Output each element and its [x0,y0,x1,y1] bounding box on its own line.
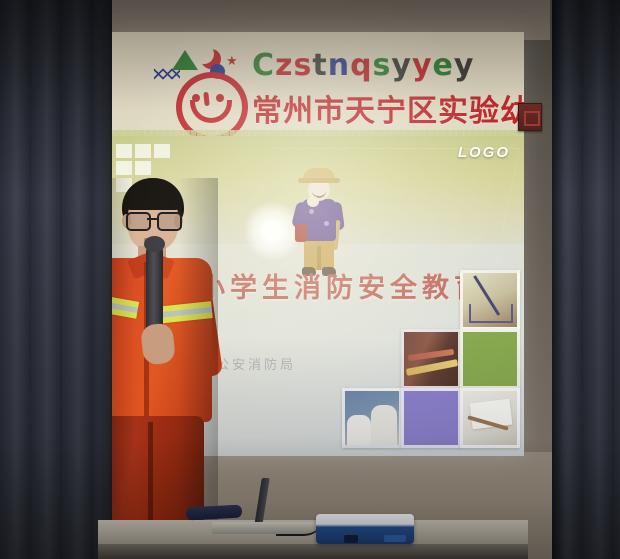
slide-header-band: ★ Czstnqsyyey 常州市天宁区实验幼儿园 [112,32,524,140]
photo-tile-purple-block [401,388,461,448]
grid-square [154,161,170,175]
photo-mosaic [342,270,518,456]
grid-square [116,144,132,158]
presentation-photo-scene: ★ Czstnqsyyey 常州市天宁区实验幼儿园 LOGO [0,0,620,559]
brand-letter: z [275,48,293,83]
brand-letter: s [294,48,313,83]
slide-subtitle: 公安消防局 [216,354,296,373]
cartoon-pouch [295,224,307,242]
photo-tile-pencils [401,329,461,389]
grid-square [154,144,170,158]
brand-letter: s [373,48,392,83]
red-crescent-icon [194,44,214,64]
glasses-icon [126,212,180,227]
brand-letter: y [412,48,433,83]
brand-letter: e [433,48,454,83]
glasses-bridge [147,218,157,220]
wall-sign-glyph [524,111,540,126]
cartoon-jacket [302,199,336,241]
brand-english-text: Czstnqsyyey [252,48,474,83]
brand-letter: t [312,48,327,83]
photo-tile-students [342,388,402,448]
brand-letter: C [252,48,275,83]
photo-tile-compass [460,270,520,330]
grid-square [135,161,151,175]
brand-letter: n [328,48,350,83]
projector-device [316,514,414,544]
logo-placeholder-text: LOGO [458,144,510,161]
brand-chinese-text: 常州市天宁区实验幼儿园 [252,86,524,130]
curtain-left [0,0,112,559]
projector-panel [384,535,406,542]
grid-square [116,161,132,175]
cartoon-hand [307,196,319,207]
red-star-icon: ★ [226,54,238,67]
brand-letter: y [454,48,475,83]
glasses-lens-left [126,212,151,231]
photo-tile-papers [460,388,520,448]
cartoon-helmet [303,168,335,182]
smiley-face-mascot-icon: ★ [154,42,250,134]
photo-tile-green-block [460,329,520,389]
brand-letter: y [391,48,412,83]
fire-safety-wall-sign [518,103,542,131]
grid-square [135,144,151,158]
presenter-hand [140,322,176,365]
table-shadow [98,544,528,559]
microphone-icon [146,244,163,332]
glasses-lens-right [157,212,182,231]
presenter-fringe [124,184,182,210]
curtain-right [552,0,620,559]
cartoon-firefighter-icon [292,168,346,278]
brand-letter: q [350,48,372,83]
